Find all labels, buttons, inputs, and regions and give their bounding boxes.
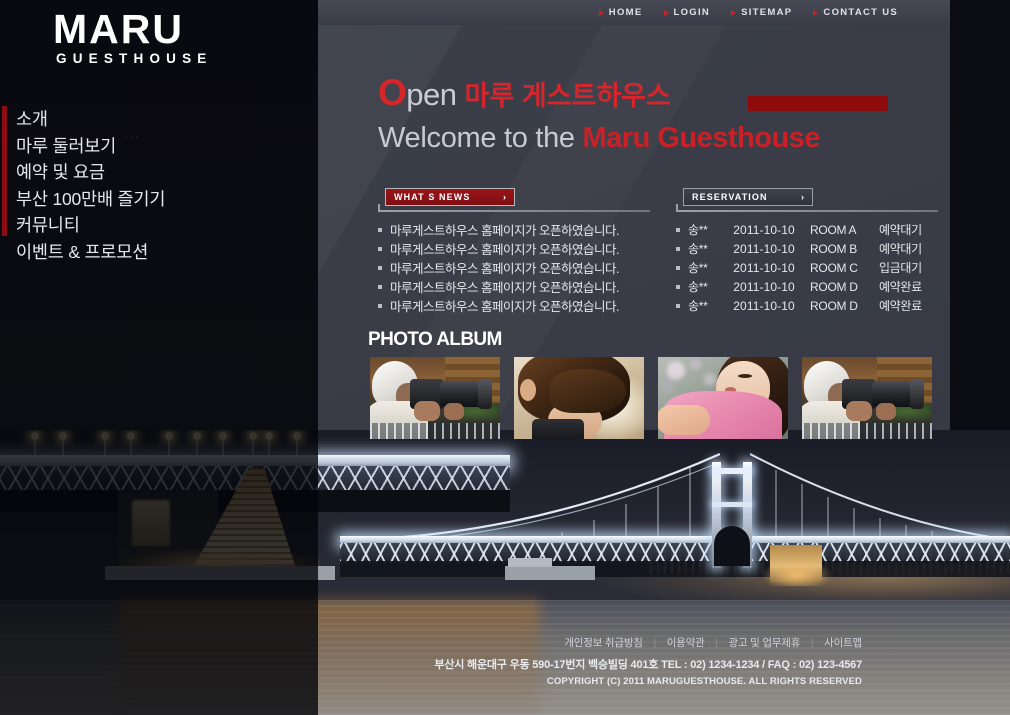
chevron-right-icon: ›: [503, 192, 506, 202]
tab-label: RESERVATION: [692, 192, 768, 202]
list-item[interactable]: 마루게스트하우스 홈페이지가 오픈하였습니다.: [378, 258, 650, 277]
reservation-name: 송**: [688, 278, 733, 295]
sidebar: MARU GUESTHOUSE 소개 마루 둘러보기 예약 및 요금 부산 10…: [0, 0, 318, 430]
hero-open-o: O: [378, 72, 406, 113]
sidebar-accent-bar: [2, 106, 7, 236]
bullet-icon: [676, 228, 680, 232]
news-text: 마루게스트하우스 홈페이지가 오픈하였습니다.: [390, 239, 619, 258]
reservation-date: 2011-10-10: [733, 261, 810, 275]
reservation-date: 2011-10-10: [733, 299, 810, 313]
footer-address: 부산시 해운대구 우동 590-17번지 백승빌딩 401호 TEL : 02)…: [318, 656, 862, 672]
hero-welcome-text: Welcome to the: [378, 122, 575, 154]
topnav-label: CONTACT US: [823, 7, 898, 18]
chevron-right-icon: ›: [801, 192, 804, 202]
right-edge-strip: [950, 0, 1010, 430]
status-badge: 예약완료: [879, 278, 938, 295]
topnav-label: SITEMAP: [741, 7, 792, 18]
logo-title: MARU: [53, 7, 213, 51]
hero-line-2: Welcome to the Maru Guesthouse: [378, 121, 918, 155]
top-navigation: HOME LOGIN SITEMAP CONTACT US: [318, 0, 950, 25]
sidebar-item-intro[interactable]: 소개: [16, 106, 296, 133]
footer-link-privacy[interactable]: 개인정보 취급방침: [564, 637, 642, 649]
table-row[interactable]: 송** 2011-10-10 ROOM A 예약대기: [676, 220, 938, 239]
hero-korean-title: 마루 게스트하우스: [465, 81, 671, 111]
triangle-right-icon: [599, 10, 604, 16]
news-text: 마루게스트하우스 홈페이지가 오픈하였습니다.: [390, 258, 619, 277]
bullet-icon: [676, 285, 680, 289]
reservation-name: 송**: [688, 221, 733, 238]
news-text: 마루게스트하우스 홈페이지가 오픈하였습니다.: [390, 296, 619, 315]
photo-thumbnail[interactable]: [802, 357, 932, 439]
triangle-right-icon: [731, 10, 736, 16]
sidebar-item-booking[interactable]: 예약 및 요금: [16, 159, 296, 186]
footer: 개인정보 취급방침 | 이용약관 | 광고 및 업무제휴 | 사이트맵 부산시 …: [318, 635, 950, 687]
status-badge: 입금대기: [879, 259, 938, 276]
photo-thumbnail[interactable]: [658, 357, 788, 439]
reservation-room: ROOM D: [810, 299, 879, 313]
photo-album-title: PHOTO ALBUM: [368, 329, 502, 351]
sidebar-item-community[interactable]: 커뮤니티: [16, 212, 296, 239]
triangle-right-icon: [813, 10, 818, 16]
topnav-item-home[interactable]: HOME: [599, 7, 643, 18]
footer-link-terms[interactable]: 이용약관: [667, 637, 705, 649]
bullet-icon: [378, 266, 382, 270]
status-badge: 예약대기: [879, 221, 938, 238]
triangle-right-icon: [664, 10, 669, 16]
photo-thumbnail[interactable]: [370, 357, 500, 439]
list-item[interactable]: 마루게스트하우스 홈페이지가 오픈하였습니다.: [378, 220, 650, 239]
hero-line-1: Open 마루 게스트하우스: [378, 74, 918, 115]
reservation-room: ROOM B: [810, 242, 879, 256]
bullet-icon: [676, 247, 680, 251]
hero-brand-text: Maru Guesthouse: [583, 122, 820, 154]
sidebar-dots-decoration: ···: [125, 131, 140, 141]
sidebar-menu: 소개 마루 둘러보기 예약 및 요금 부산 100만배 즐기기 커뮤니티 이벤트…: [16, 106, 296, 265]
reservation-name: 송**: [688, 240, 733, 257]
bullet-icon: [378, 247, 382, 251]
hero-heading: Open 마루 게스트하우스 Welcome to the Maru Guest…: [378, 74, 918, 155]
reservation-room: ROOM C: [810, 261, 879, 275]
topnav-item-login[interactable]: LOGIN: [664, 7, 711, 18]
table-row[interactable]: 송** 2011-10-10 ROOM D 예약완료: [676, 296, 938, 315]
topnav-label: HOME: [609, 7, 643, 18]
reservation-list: 송** 2011-10-10 ROOM A 예약대기 송** 2011-10-1…: [676, 220, 938, 315]
reservation-name: 송**: [688, 259, 733, 276]
reservation-date: 2011-10-10: [733, 223, 810, 237]
table-row[interactable]: 송** 2011-10-10 ROOM C 입금대기: [676, 258, 938, 277]
logo[interactable]: MARU GUESTHOUSE: [53, 7, 213, 67]
list-item[interactable]: 마루게스트하우스 홈페이지가 오픈하였습니다.: [378, 277, 650, 296]
reservation-board: RESERVATION › 송** 2011-10-10 ROOM A 예약대기…: [676, 186, 938, 315]
footer-separator: |: [715, 637, 718, 649]
reservation-name: 송**: [688, 297, 733, 314]
news-text: 마루게스트하우스 홈페이지가 오픈하였습니다.: [390, 277, 619, 296]
tab-whats-news[interactable]: WHAT S NEWS ›: [385, 188, 515, 206]
footer-copyright: COPYRIGHT (C) 2011 MARUGUESTHOUSE. ALL R…: [318, 676, 862, 687]
bullet-icon: [378, 228, 382, 232]
footer-separator: |: [811, 637, 814, 649]
topnav-item-sitemap[interactable]: SITEMAP: [731, 7, 792, 18]
status-badge: 예약완료: [879, 297, 938, 314]
footer-links: 개인정보 취급방침 | 이용약관 | 광고 및 업무제휴 | 사이트맵: [318, 635, 862, 650]
logo-subtitle: GUESTHOUSE: [56, 51, 213, 67]
tab-label: WHAT S NEWS: [394, 192, 470, 202]
bullet-icon: [676, 266, 680, 270]
sidebar-item-busan[interactable]: 부산 100만배 즐기기: [16, 186, 296, 213]
page-root: MARU GUESTHOUSE 소개 마루 둘러보기 예약 및 요금 부산 10…: [0, 0, 1010, 715]
topnav-label: LOGIN: [674, 7, 711, 18]
photo-thumbnail[interactable]: [514, 357, 644, 439]
table-row[interactable]: 송** 2011-10-10 ROOM D 예약완료: [676, 277, 938, 296]
topnav-item-contact-us[interactable]: CONTACT US: [813, 7, 898, 18]
reservation-date: 2011-10-10: [733, 280, 810, 294]
footer-separator: |: [653, 637, 656, 649]
sidebar-item-events[interactable]: 이벤트 & 프로모션: [16, 239, 296, 266]
footer-link-sitemap[interactable]: 사이트맵: [824, 637, 862, 649]
news-tabstrip: WHAT S NEWS ›: [378, 186, 650, 212]
table-row[interactable]: 송** 2011-10-10 ROOM B 예약대기: [676, 239, 938, 258]
list-item[interactable]: 마루게스트하우스 홈페이지가 오픈하였습니다.: [378, 296, 650, 315]
bullet-icon: [676, 304, 680, 308]
news-list: 마루게스트하우스 홈페이지가 오픈하였습니다. 마루게스트하우스 홈페이지가 오…: [378, 220, 650, 315]
reservation-date: 2011-10-10: [733, 242, 810, 256]
photo-album-thumbnails: [370, 357, 940, 439]
bullet-icon: [378, 304, 382, 308]
reservation-room: ROOM A: [810, 223, 879, 237]
list-item[interactable]: 마루게스트하우스 홈페이지가 오픈하였습니다.: [378, 239, 650, 258]
news-text: 마루게스트하우스 홈페이지가 오픈하였습니다.: [390, 220, 619, 239]
hero-open-rest: pen: [406, 77, 456, 112]
tab-reservation[interactable]: RESERVATION ›: [683, 188, 813, 206]
footer-link-advertising[interactable]: 광고 및 업무제휴: [729, 637, 801, 649]
status-badge: 예약대기: [879, 240, 938, 257]
news-board: WHAT S NEWS › 마루게스트하우스 홈페이지가 오픈하였습니다. 마루…: [378, 186, 650, 315]
reservation-room: ROOM D: [810, 280, 879, 294]
reservation-tabstrip: RESERVATION ›: [676, 186, 938, 212]
hero-red-bar: [748, 96, 888, 111]
sidebar-item-tour[interactable]: 마루 둘러보기: [16, 133, 296, 160]
bullet-icon: [378, 285, 382, 289]
